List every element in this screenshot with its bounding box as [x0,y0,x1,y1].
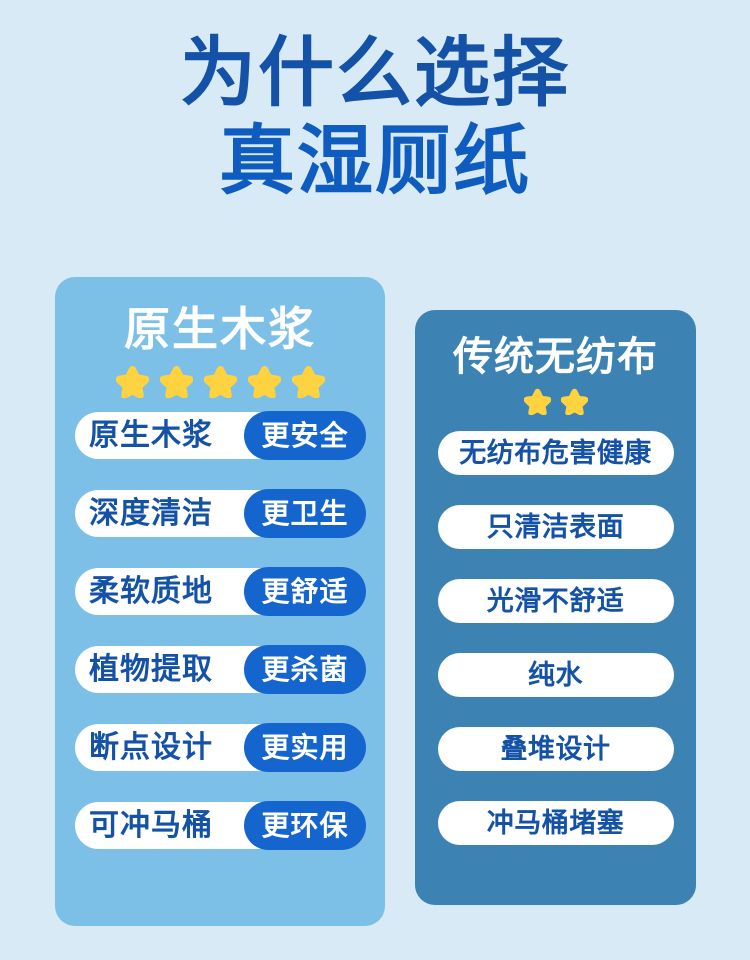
feature-label: 冲马桶堵塞 [487,801,625,845]
feature-row[interactable]: 断点设计更实用 [75,724,365,771]
star-icon [204,365,237,398]
feature-label: 无纺布危害健康 [459,431,652,475]
feature-row[interactable]: 叠堆设计 [438,727,674,771]
feature-badge: 更环保 [244,801,366,850]
feature-row[interactable]: 只清洁表面 [438,505,674,549]
feature-row[interactable]: 植物提取更杀菌 [75,646,365,693]
feature-row[interactable]: 无纺布危害健康 [438,431,674,475]
feature-label: 柔软质地 [89,568,213,615]
feature-row[interactable]: 深度清洁更卫生 [75,490,365,537]
right-card-feature-list: 无纺布危害健康只清洁表面光滑不舒适纯水叠堆设计冲马桶堵塞 [415,431,696,845]
page-title: 为什么选择 真湿厕纸 [0,32,750,204]
feature-badge: 更杀菌 [244,645,366,694]
star-icon [292,365,325,398]
feature-label: 可冲马桶 [89,802,213,849]
comparison-cards: 原生木浆 原生木浆更安全深度清洁更卫生柔软质地更舒适植物提取更杀菌断点设计更实用… [0,277,750,937]
feature-row[interactable]: 原生木浆更安全 [75,412,365,459]
star-icon [116,365,149,398]
left-card-header: 原生木浆 [55,277,385,355]
feature-badge: 更安全 [244,411,366,460]
left-card-feature-list: 原生木浆更安全深度清洁更卫生柔软质地更舒适植物提取更杀菌断点设计更实用可冲马桶更… [55,412,385,849]
feature-row[interactable]: 冲马桶堵塞 [438,801,674,845]
feature-label: 植物提取 [89,646,213,693]
star-icon [160,365,193,398]
feature-badge: 更实用 [244,723,366,772]
feature-label: 纯水 [528,653,583,697]
feature-label: 光滑不舒适 [487,579,625,623]
card-traditional-nonwoven: 传统无纺布 无纺布危害健康只清洁表面光滑不舒适纯水叠堆设计冲马桶堵塞 [415,310,696,905]
feature-row[interactable]: 柔软质地更舒适 [75,568,365,615]
feature-row[interactable]: 光滑不舒适 [438,579,674,623]
page-title-line-2: 真湿厕纸 [0,120,750,204]
feature-badge: 更卫生 [244,489,366,538]
left-card-star-rating [55,365,385,398]
star-icon [248,365,281,398]
feature-label: 只清洁表面 [487,505,625,549]
feature-badge: 更舒适 [244,567,366,616]
right-card-star-rating [415,388,696,415]
page-title-line-1: 为什么选择 [0,32,750,116]
card-natural-wood-pulp: 原生木浆 原生木浆更安全深度清洁更卫生柔软质地更舒适植物提取更杀菌断点设计更实用… [55,277,385,926]
feature-row[interactable]: 纯水 [438,653,674,697]
feature-label: 断点设计 [89,724,213,771]
feature-label: 原生木浆 [89,412,213,459]
right-card-header: 传统无纺布 [415,310,696,380]
star-icon [561,388,588,415]
star-icon [524,388,551,415]
feature-label: 深度清洁 [89,490,213,537]
feature-label: 叠堆设计 [501,727,611,771]
feature-row[interactable]: 可冲马桶更环保 [75,802,365,849]
